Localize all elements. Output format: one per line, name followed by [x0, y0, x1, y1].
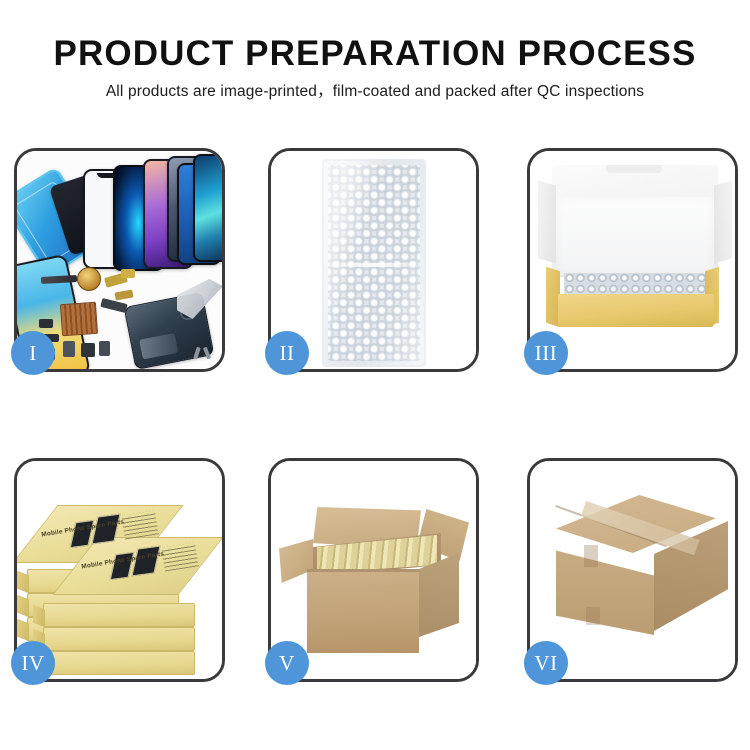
copper-shield-part — [60, 302, 98, 336]
carton-front-panel — [307, 569, 419, 653]
stacked-box-front-3 — [43, 651, 195, 675]
page-title: PRODUCT PREPARATION PROCESS — [0, 34, 750, 74]
small-part-4 — [63, 341, 75, 357]
flex-cable-part-3 — [100, 298, 127, 313]
step-panel-6[interactable]: VI — [527, 458, 738, 682]
step-panel-4[interactable]: Mobile Phone Spare Parts Mobile Phone Sp… — [14, 458, 225, 682]
step-badge-1: I — [11, 331, 55, 375]
step-badge-5: V — [265, 641, 309, 685]
step-badge-3: III — [524, 331, 568, 375]
stacked-box-front-1 — [43, 603, 195, 627]
process-steps-grid: I II III — [0, 141, 750, 689]
small-part-1 — [39, 319, 53, 328]
step-badge-6: VI — [524, 641, 568, 685]
carton-front-seam — [307, 569, 419, 572]
small-part-5 — [81, 343, 95, 357]
speaker-coil-part — [77, 267, 101, 291]
phone-screen-teal-swirl — [193, 154, 222, 262]
stacked-box-front-2 — [43, 627, 195, 651]
carton-tab-2 — [586, 607, 600, 625]
step-panel-5[interactable]: V — [268, 458, 479, 682]
step-panel-3[interactable]: III — [527, 148, 738, 372]
step-panel-1[interactable]: I — [14, 148, 225, 372]
page-header: PRODUCT PREPARATION PROCESS All products… — [0, 0, 750, 103]
screws-icon — [193, 347, 215, 361]
sealed-carton-front — [556, 539, 654, 635]
page-subtitle: All products are image-printed，film-coat… — [0, 81, 750, 103]
flex-cable-part-4 — [114, 289, 133, 300]
carton-tab-1 — [584, 545, 598, 567]
inner-box-notch — [606, 165, 662, 173]
flex-cable-part-2 — [121, 269, 135, 278]
small-part-6 — [99, 341, 110, 356]
step-panel-2[interactable]: II — [268, 148, 479, 372]
bubble-wrap-highlight — [324, 161, 424, 365]
inner-box-front-wall — [558, 294, 714, 327]
step-badge-4: IV — [11, 641, 55, 685]
step-badge-2: II — [265, 331, 309, 375]
inner-box-foam-sheet — [556, 197, 714, 275]
